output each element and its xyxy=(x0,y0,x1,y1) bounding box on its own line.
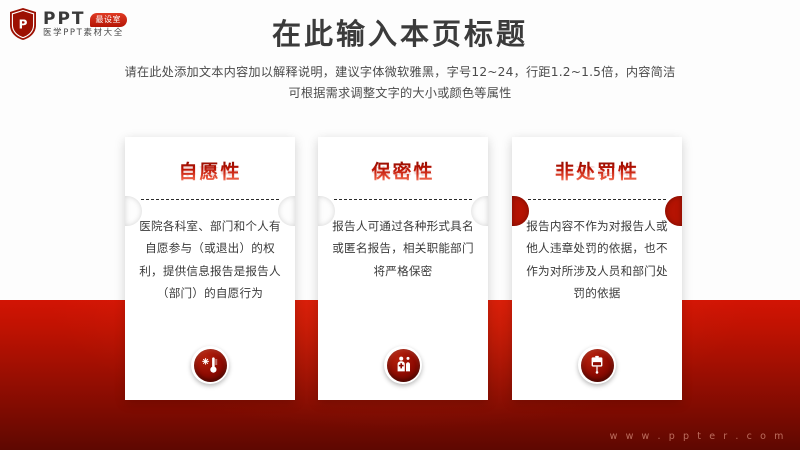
card-body: 医院各科室、部门和个人有自愿参与（或退出）的权利，提供信息报告是报告人（部门）的… xyxy=(139,215,281,304)
card-divider xyxy=(334,199,472,200)
card-title: 保密性 xyxy=(318,157,488,184)
card-body: 报告人可通过各种形式具名或匿名报告，相关职能部门将严格保密 xyxy=(332,215,474,282)
card-divider xyxy=(528,199,666,200)
card-confidential[interactable]: 保密性 保密性 报告人可通过各种形式具名或匿名报告，相关职能部门将严格保密 xyxy=(318,137,488,400)
card-icon-badge[interactable] xyxy=(384,346,422,384)
card-divider xyxy=(141,199,279,200)
card-icon-badge[interactable] xyxy=(191,346,229,384)
slide-canvas: P PPT 最设室 医学PPT素材大全 在此输入本页标题 请在此处添加文本内容加… xyxy=(0,0,800,450)
card-title: 非处罚性 xyxy=(512,157,682,184)
doctor-person-icon xyxy=(387,349,420,382)
card-body: 报告内容不作为对报告人或他人违章处罚的依据，也不作为对所涉及人员和部门处罚的依据 xyxy=(526,215,668,304)
card-list: 自愿性 自愿性 医院各科室、部门和个人有自愿参与（或退出）的权利，提供信息报告是… xyxy=(0,0,800,450)
card-icon-badge[interactable] xyxy=(578,346,616,384)
thermometer-icon xyxy=(194,349,227,382)
card-nonpunitive[interactable]: 非处罚性 非处罚性 报告内容不作为对报告人或他人违章处罚的依据，也不作为对所涉及… xyxy=(512,137,682,400)
card-voluntary[interactable]: 自愿性 自愿性 医院各科室、部门和个人有自愿参与（或退出）的权利，提供信息报告是… xyxy=(125,137,295,400)
card-title: 自愿性 xyxy=(125,157,295,184)
iv-blood-bag-icon xyxy=(581,349,614,382)
site-watermark: w w w . p p t e r . c o m xyxy=(610,431,786,442)
